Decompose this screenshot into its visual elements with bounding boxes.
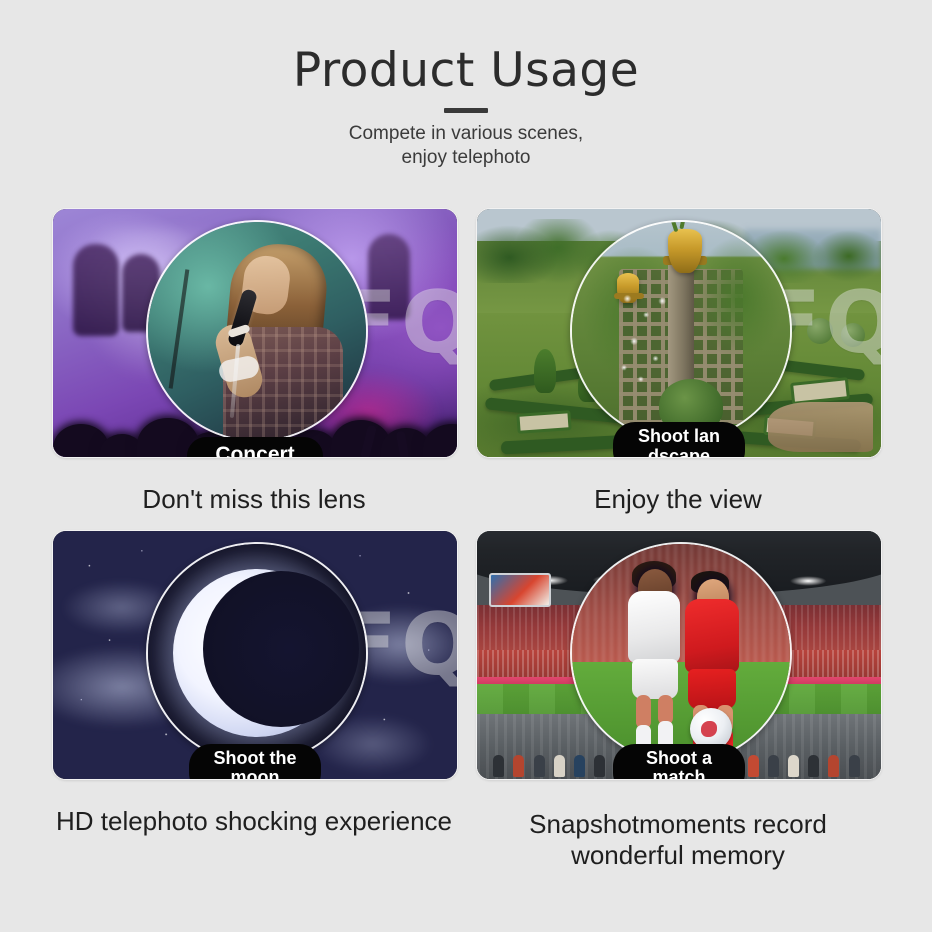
background-musician-icon <box>368 234 410 320</box>
background-musician-icon <box>73 244 119 336</box>
card-caption-concert: Don't miss this lens <box>52 484 456 516</box>
usage-cell-match: Shoot a match Snapshotmoments record won… <box>476 530 880 872</box>
climbing-vine <box>694 238 783 358</box>
card-caption-match: Snapshotmoments record wonderful memory <box>476 806 880 872</box>
scoreboard-screen <box>489 573 551 607</box>
usage-cell-landscape: UQFQ_ <box>476 208 880 516</box>
magnifier-lens-match <box>570 542 792 764</box>
card-caption-moon: HD telephoto shocking experience <box>52 806 456 838</box>
page-title: Product Usage <box>0 47 932 94</box>
usage-card-landscape[interactable]: UQFQ_ <box>476 208 882 458</box>
usage-cell-concert: UQFQ_ <box>52 208 456 516</box>
card-badge-concert: Concert <box>187 437 323 458</box>
usage-cell-moon: UQFQ_ Shoot the moon HD telephoto shocki… <box>52 530 456 872</box>
magnifier-lens-moon <box>146 542 368 764</box>
product-usage-page: Product Usage Compete in various scenes,… <box>0 0 932 932</box>
magnifier-lens-landscape <box>570 220 792 442</box>
card-badge-match: Shoot a match <box>613 744 745 780</box>
subtitle-line-2: enjoy telephoto <box>0 146 932 170</box>
subtitle-line-1: Compete in various scenes, <box>0 122 932 146</box>
card-badge-landscape: Shoot lan dscape <box>613 422 745 458</box>
card-badge-moon: Shoot the moon <box>189 744 321 780</box>
card-caption-landscape: Enjoy the view <box>476 484 880 516</box>
usage-card-moon[interactable]: UQFQ_ Shoot the moon <box>52 530 458 780</box>
blurred-crowd <box>570 542 792 666</box>
crescent-shadow <box>203 571 359 727</box>
magnifier-lens-concert <box>146 220 368 442</box>
subtitle: Compete in various scenes, enjoy telepho… <box>0 122 932 170</box>
title-divider <box>444 108 488 113</box>
header: Product Usage Compete in various scenes,… <box>0 0 932 170</box>
white-blossoms <box>614 278 681 393</box>
usage-card-grid: UQFQ_ <box>52 208 880 872</box>
usage-card-concert[interactable]: UQFQ_ <box>52 208 458 458</box>
usage-card-match[interactable]: Shoot a match <box>476 530 882 780</box>
